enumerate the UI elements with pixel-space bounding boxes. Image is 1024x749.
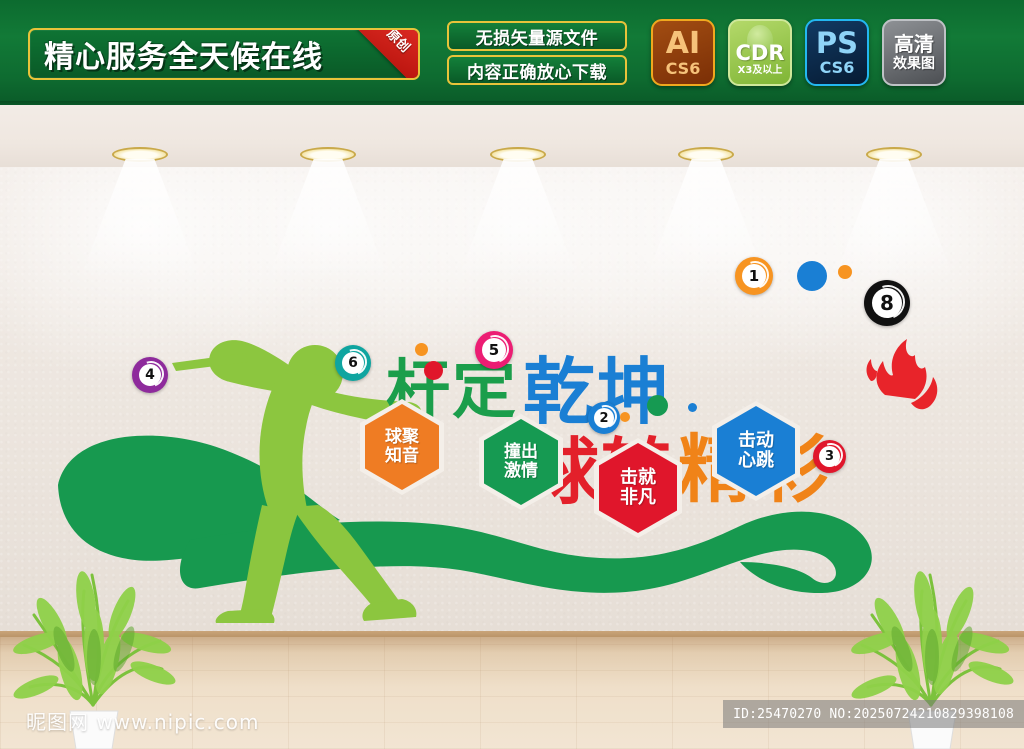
ai-badge: AI CS6	[651, 19, 715, 86]
hd-badge-subtitle: 效果图	[893, 57, 935, 71]
cdr-badge: CDR X3及以上	[728, 19, 792, 86]
original-ribbon: 原创	[350, 28, 420, 80]
flame-icon	[855, 333, 945, 423]
decor-dot-red-1	[424, 361, 443, 380]
ball-3: 3	[813, 440, 846, 473]
ball-8: 8	[864, 280, 910, 326]
original-ribbon-label: 原创	[383, 28, 415, 56]
feature-pill-download-label: 内容正确放心下载	[467, 58, 607, 83]
hex-jidong-xintiao-line1: 击动	[738, 431, 774, 451]
hex-jidong-xintiao-line2: 心跳	[738, 451, 774, 471]
site-watermark: 昵图网 www.nipic.com	[26, 706, 260, 735]
image-id-label: ID:25470270 NO:20250724210829398108	[723, 700, 1024, 728]
ball-1: 1	[735, 257, 773, 295]
decor-dot-orange-2	[838, 265, 852, 279]
promo-header-banner: 精心服务全天候在线 原创 无损矢量源文件 内容正确放心下载 AI CS6 CDR…	[0, 0, 1024, 105]
decor-dot-blue-1	[797, 261, 827, 291]
ps-badge: PS CS6	[805, 19, 869, 86]
cdr-badge-name: CDR	[735, 43, 784, 64]
feature-pill-vector-label: 无损矢量源文件	[476, 24, 599, 49]
hd-badge-name: 高清	[894, 34, 934, 54]
room-mockup: 杆定 乾坤 球转 精彩 球聚 知音 撞出 激情 击就 非凡 击动	[0, 105, 1024, 749]
poster-page: 精心服务全天候在线 原创 无损矢量源文件 内容正确放心下载 AI CS6 CDR…	[0, 0, 1024, 749]
ps-badge-version: CS6	[820, 60, 855, 76]
decor-dot-green-1	[647, 395, 668, 416]
ai-badge-version: CS6	[666, 61, 701, 77]
hd-badge: 高清 效果图	[882, 19, 946, 86]
ball-5: 5	[475, 331, 513, 369]
header-main-title-box: 精心服务全天候在线 原创	[28, 28, 420, 80]
hex-zhuangchu-jiqing-line2: 激情	[504, 462, 538, 481]
decor-dot-orange-1	[415, 343, 428, 356]
ball-4-highlight	[134, 357, 169, 392]
hex-jijiu-feifan-line1: 击就	[620, 468, 656, 488]
ball-2: 2	[588, 402, 620, 434]
header-main-title: 精心服务全天候在线	[44, 32, 323, 76]
ball-1-highlight	[736, 256, 773, 293]
hex-qiuju-zhiyin-line2: 知音	[385, 447, 419, 466]
decor-dot-blue-2	[688, 403, 697, 412]
feature-pill-download: 内容正确放心下载	[447, 55, 627, 85]
cdr-badge-version: X3及以上	[738, 66, 783, 76]
ball-6: 6	[335, 345, 371, 381]
ps-badge-name: PS	[816, 29, 858, 58]
ball-8-highlight	[865, 279, 910, 324]
hex-qiuju-zhiyin-line1: 球聚	[385, 428, 419, 447]
hex-zhuangchu-jiqing-line1: 撞出	[504, 443, 538, 462]
ball-6-highlight	[337, 345, 372, 380]
ball-4: 4	[132, 357, 168, 393]
decor-dot-orange-3	[620, 412, 630, 422]
hex-jijiu-feifan-line2: 非凡	[620, 488, 656, 508]
ai-badge-name: AI	[666, 29, 700, 59]
feature-pill-vector: 无损矢量源文件	[447, 21, 627, 51]
